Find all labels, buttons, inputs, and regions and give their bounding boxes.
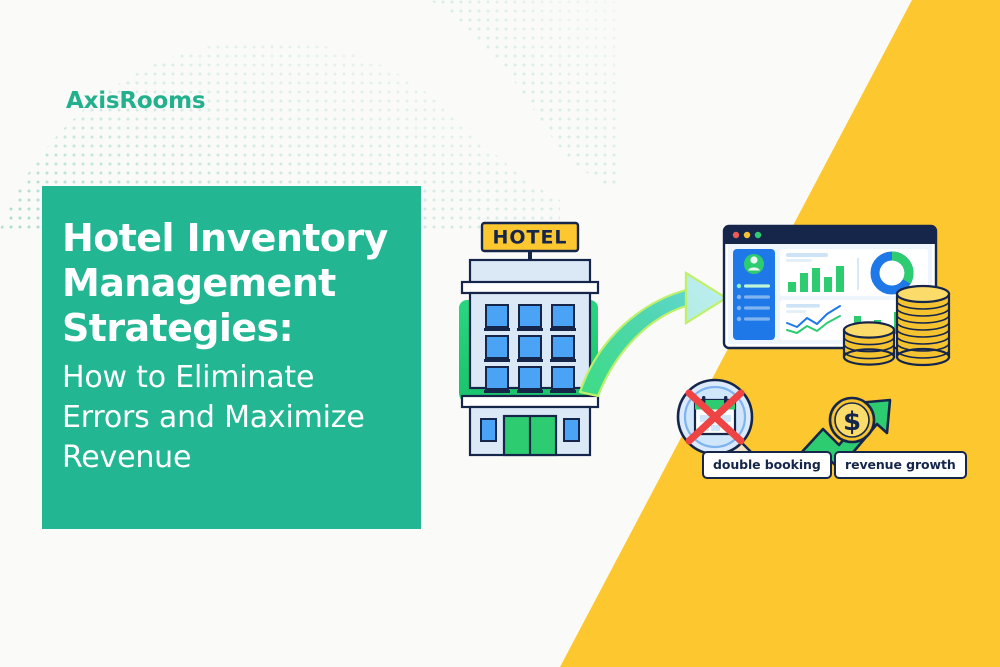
brand-logo: AxisRooms bbox=[66, 90, 205, 113]
user-avatar-icon bbox=[744, 254, 764, 274]
hotel-windows bbox=[484, 305, 576, 393]
title-card: Hotel Inventory Management Strategies: H… bbox=[42, 186, 421, 529]
coin-stack-tall bbox=[897, 286, 949, 365]
svg-text:HOTEL: HOTEL bbox=[492, 227, 567, 249]
hotel-entrance-doors bbox=[504, 416, 556, 455]
dashboard-sidebar bbox=[733, 249, 775, 340]
illustration-badges: double booking revenue growth bbox=[690, 368, 990, 483]
page-subtitle: How to Eliminate Errors and Maximize Rev… bbox=[62, 358, 393, 477]
window-controls bbox=[733, 232, 761, 238]
page-title: Hotel Inventory Management Strategies: bbox=[62, 216, 393, 350]
hotel-building: HOTEL bbox=[462, 223, 598, 455]
coin-stack-short bbox=[844, 322, 894, 364]
badge-revenue-growth: revenue growth bbox=[834, 451, 967, 479]
hotel-sign: HOTEL bbox=[482, 223, 578, 251]
badge-double-booking: double booking bbox=[702, 451, 832, 479]
poster-canvas: AxisRooms Hotel Inventory Management Str… bbox=[0, 0, 1000, 667]
